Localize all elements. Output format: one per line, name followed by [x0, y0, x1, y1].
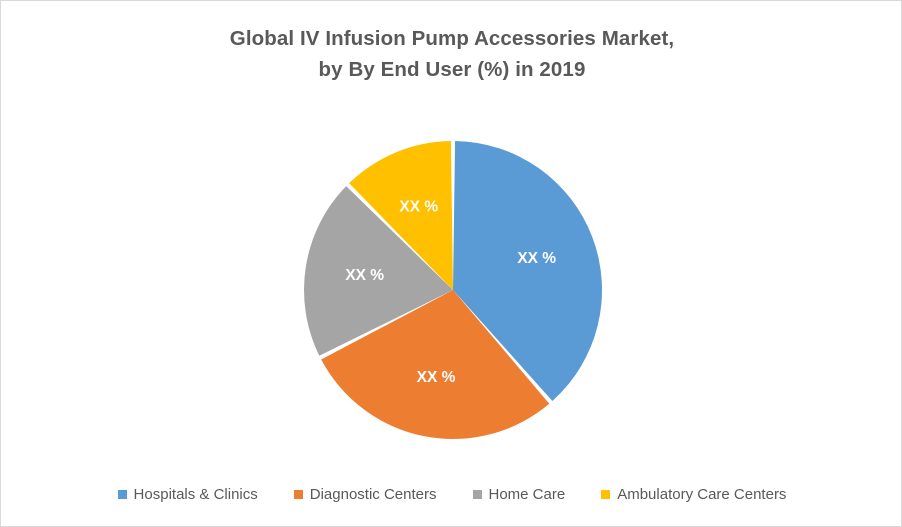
- legend-swatch-icon: [601, 490, 610, 499]
- legend-item[interactable]: Home Care: [473, 486, 566, 503]
- chart-legend: Hospitals & ClinicsDiagnostic CentersHom…: [1, 479, 902, 509]
- pie-slice-data-label: XX %: [345, 267, 384, 284]
- legend-swatch-icon: [473, 490, 482, 499]
- legend-item[interactable]: Hospitals & Clinics: [118, 486, 258, 503]
- legend-swatch-icon: [294, 490, 303, 499]
- pie-svg: XX %XX %XX %XX %: [1, 1, 902, 461]
- pie-slice-group: [304, 141, 602, 439]
- legend-item-label: Hospitals & Clinics: [134, 486, 258, 503]
- legend-item[interactable]: Diagnostic Centers: [294, 486, 437, 503]
- legend-item-label: Diagnostic Centers: [310, 486, 437, 503]
- legend-item-label: Ambulatory Care Centers: [617, 486, 786, 503]
- pie-slice-data-label: XX %: [517, 250, 556, 267]
- pie-plot-area: XX %XX %XX %XX %: [1, 1, 902, 461]
- pie-slice-data-label: XX %: [399, 198, 438, 215]
- pie-chart-card: Global IV Infusion Pump Accessories Mark…: [0, 0, 902, 527]
- legend-item-label: Home Care: [489, 486, 566, 503]
- pie-slice-data-label: XX %: [417, 369, 456, 386]
- legend-swatch-icon: [118, 490, 127, 499]
- legend-item[interactable]: Ambulatory Care Centers: [601, 486, 786, 503]
